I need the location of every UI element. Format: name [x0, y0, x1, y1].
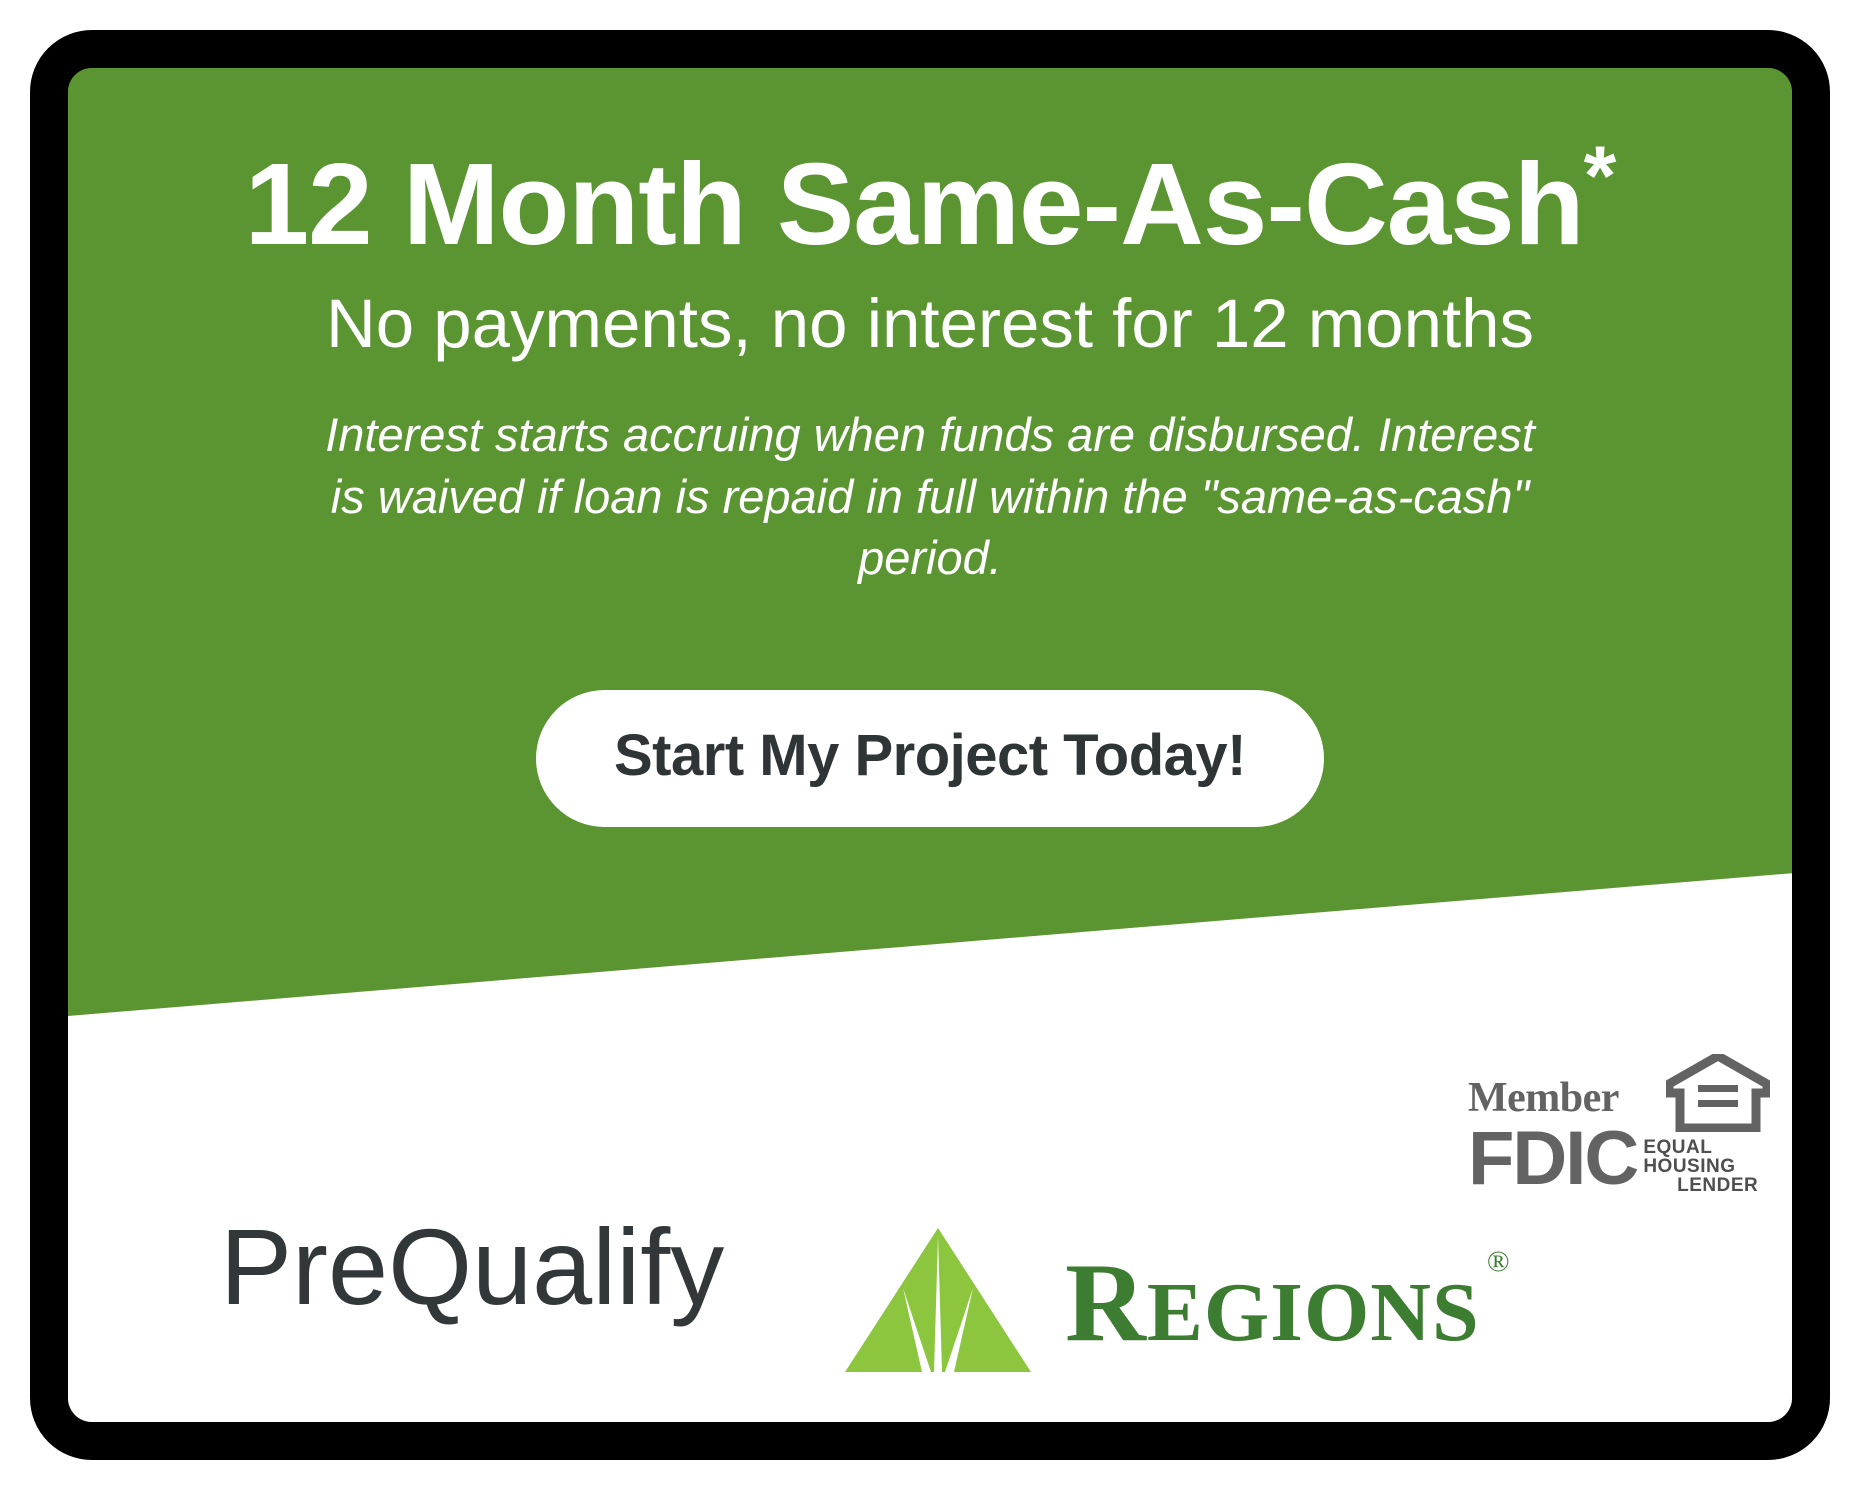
equal-housing-lender-house-icon	[1666, 1054, 1770, 1137]
headline-text: 12 Month Same-As-Cash	[245, 139, 1584, 269]
fdic-text-block: Member FDIC	[1468, 1077, 1637, 1197]
cta-container: Start My Project Today!	[68, 690, 1792, 827]
member-fdic-logo: Member FDIC EQUAL HOUSING LENDER	[1468, 1054, 1792, 1197]
regions-wordmark: REGIONS	[1065, 1241, 1480, 1365]
fdic-acronym-label: FDIC	[1468, 1121, 1637, 1197]
subheadline: No payments, no interest for 12 months	[68, 262, 1792, 360]
regions-initial: R	[1065, 1241, 1147, 1365]
disclaimer-text: Interest starts accruing when funds are …	[305, 360, 1555, 587]
equal-housing-lender-text: EQUAL HOUSING LENDER	[1643, 1138, 1792, 1195]
fdic-member-label: Member	[1468, 1077, 1619, 1119]
regions-rest: EGIONS	[1147, 1266, 1480, 1359]
regions-logo: REGIONS ®	[843, 1226, 1480, 1379]
ehl-line-1: EQUAL HOUSING	[1643, 1138, 1792, 1176]
headline-asterisk: *	[1584, 128, 1616, 222]
promo-card: 12 Month Same-As-Cash* No payments, no i…	[30, 30, 1830, 1460]
equal-housing-lender-mark: EQUAL HOUSING LENDER	[1643, 1054, 1792, 1195]
registered-trademark-icon: ®	[1487, 1245, 1510, 1279]
page-title: 12 Month Same-As-Cash*	[68, 68, 1792, 262]
card-surface: 12 Month Same-As-Cash* No payments, no i…	[68, 68, 1792, 1422]
prequalify-wordmark: PreQualify	[220, 1204, 724, 1329]
regions-wordmark-wrap: REGIONS ®	[1065, 1247, 1480, 1359]
start-my-project-button[interactable]: Start My Project Today!	[536, 690, 1324, 827]
ehl-line-2: LENDER	[1677, 1176, 1758, 1195]
regions-pyramid-icon	[843, 1226, 1033, 1379]
